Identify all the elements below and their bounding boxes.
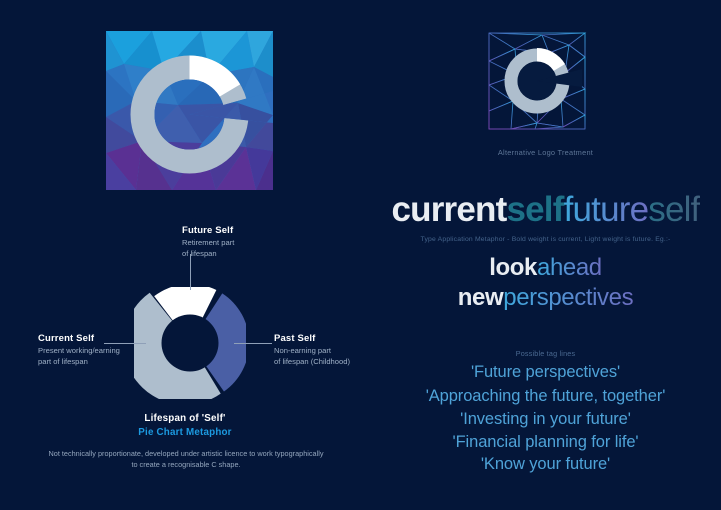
type-lockup: currentselffutureself <box>370 192 721 227</box>
right-column: Alternative Logo Treatment currentselffu… <box>370 0 721 510</box>
type-application-note: Type Application Metaphor - Bold weight … <box>370 236 721 243</box>
tagline-item: 'Investing in your future' <box>370 411 721 428</box>
type-example-1-light: ahead <box>537 254 602 281</box>
pie-label-past-sub-1: Non-earning part <box>274 346 350 356</box>
tagline-item: 'Know your future' <box>370 456 721 473</box>
left-column: Future Self Retirement part of lifespan … <box>0 0 370 510</box>
donut-chart <box>134 287 246 399</box>
type-example-2-light: perspectives <box>503 284 633 311</box>
pie-label-current-sub-1: Present working/earning <box>38 346 120 356</box>
alternative-logo-caption: Alternative Logo Treatment <box>370 148 721 157</box>
taglines-title: Possible tag lines <box>370 349 721 358</box>
lockup-word-future: future <box>564 190 649 229</box>
pie-label-past: Past Self Non-earning part of lifespan (… <box>274 334 350 367</box>
lockup-word-current: current <box>391 190 506 229</box>
type-example-2: newperspectives <box>370 286 721 310</box>
pie-label-future-sub-2: of lifespan <box>182 249 234 259</box>
pie-label-current: Current Self Present working/earning par… <box>38 334 120 367</box>
pie-label-current-sub-2: part of lifespan <box>38 357 120 367</box>
pie-caption-line-2: Pie Chart Metaphor <box>0 426 370 440</box>
pie-caption: Lifespan of 'Self' Pie Chart Metaphor <box>0 412 370 440</box>
pie-caption-line-1: Lifespan of 'Self' <box>0 412 370 426</box>
pie-label-future-title: Future Self <box>182 226 234 236</box>
pie-label-past-title: Past Self <box>274 334 350 344</box>
lockup-word-self-light: self <box>648 190 699 229</box>
type-example-2-bold: new <box>458 284 503 311</box>
pie-note: Not technically proportionate, developed… <box>48 448 324 471</box>
primary-logo-tile <box>106 31 273 190</box>
pie-inner-hole <box>162 315 219 372</box>
pie-label-future: Future Self Retirement part of lifespan <box>182 226 234 259</box>
lockup-word-self-bold: self <box>506 190 563 229</box>
type-example-1: lookahead <box>370 256 721 280</box>
type-example-1-bold: look <box>489 254 537 281</box>
alternative-logo <box>487 31 587 131</box>
pie-label-past-sub-2: of lifespan (Childhood) <box>274 357 350 367</box>
tagline-item: 'Future perspectives' <box>370 364 721 381</box>
pie-label-future-sub-1: Retirement part <box>182 238 234 248</box>
tagline-item: 'Approaching the future, together' <box>370 388 721 405</box>
brand-guideline-page: Future Self Retirement part of lifespan … <box>0 0 721 510</box>
leader-line-future <box>190 254 191 290</box>
pie-chart-block: Future Self Retirement part of lifespan … <box>0 226 370 486</box>
pie-label-current-title: Current Self <box>38 334 120 344</box>
tagline-item: 'Financial planning for life' <box>370 434 721 451</box>
leader-line-past <box>234 343 272 344</box>
